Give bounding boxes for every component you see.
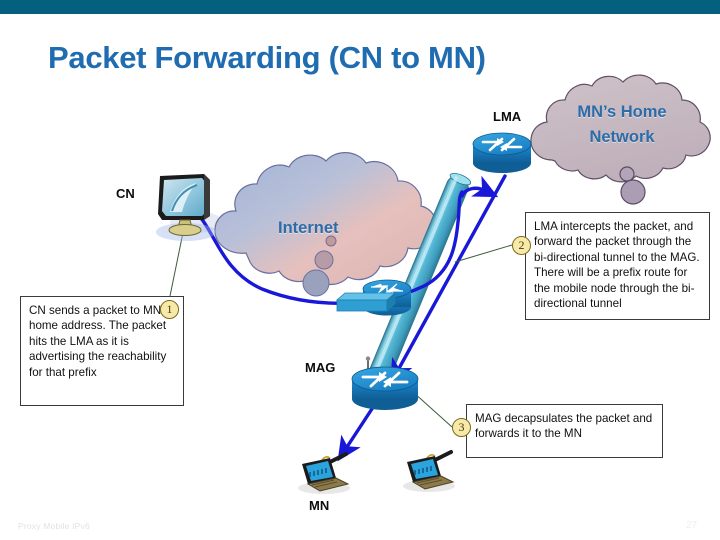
laptop-icon: [298, 454, 350, 494]
callout-badge-2: 2: [512, 236, 531, 255]
page-number: 27: [686, 520, 697, 531]
internet-cloud-label: Internet: [278, 219, 339, 238]
callout-badge-1: 1: [160, 300, 179, 319]
callout-badge-3: 3: [452, 418, 471, 437]
lma-label: LMA: [493, 109, 521, 124]
callout-box-1: CN sends a packet to MN’s home address. …: [20, 296, 184, 406]
mn-label: MN: [309, 498, 329, 513]
cn-label: CN: [116, 186, 135, 201]
lma-router-icon: [473, 133, 531, 173]
callout-box-2: LMA intercepts the packet, and forward t…: [525, 212, 710, 320]
footer-text: Proxy Mobile IPv6: [18, 521, 90, 531]
laptop-icon: [403, 452, 455, 492]
internet-switch-icon: [337, 293, 395, 311]
mag-label: MAG: [305, 360, 335, 375]
workstation-icon: [156, 174, 216, 241]
home-network-cloud-label: MN’s Home Network: [566, 100, 678, 150]
slide: Packet Forwarding (CN to MN): [0, 0, 720, 540]
callout-box-3: MAG decapsulates the packet and forwards…: [466, 404, 663, 458]
